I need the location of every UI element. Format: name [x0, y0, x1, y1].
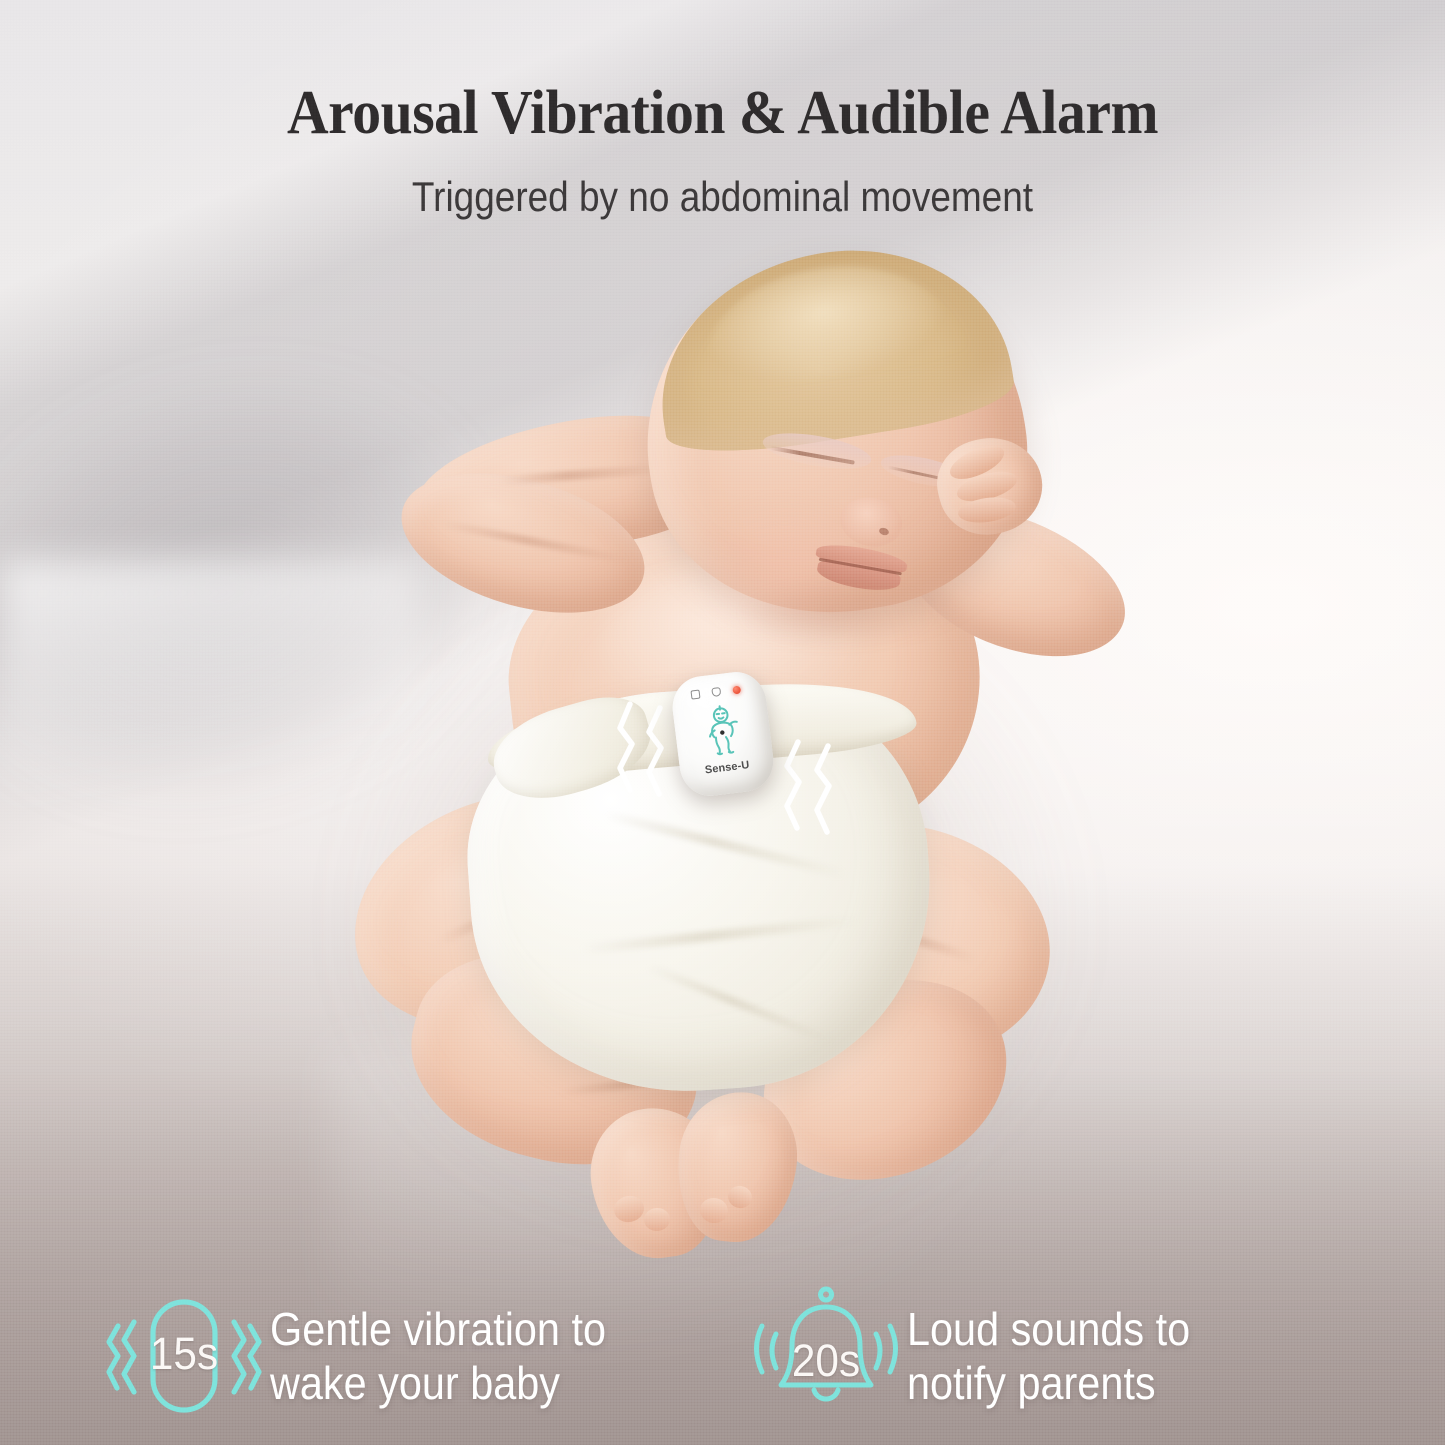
page-subtitle: Triggered by no abdominal movement [87, 176, 1359, 218]
bell-alarm-icon: 20s [751, 1286, 901, 1426]
feature-sound: 20s Loud sounds to notify parents [751, 1286, 1222, 1426]
sense-u-baby-monitor-device[interactable]: Sense-U [669, 669, 777, 800]
chin-shadow [742, 588, 932, 644]
sound-text-line2: notify parents [907, 1356, 1190, 1410]
vibration-waves-left-icon [616, 698, 678, 802]
page-title: Arousal Vibration & Audible Alarm [51, 82, 1395, 144]
vibration-device-icon: 15s [104, 1292, 264, 1420]
sound-feature-text: Loud sounds to notify parents [907, 1302, 1190, 1411]
baby-line-art-icon [689, 698, 756, 765]
product-feature-poster: Sense-U Arousal Vibration & Audible Alar… [0, 0, 1445, 1445]
feature-callout-row: 15s Gentle vibration to wake your baby [0, 1286, 1445, 1426]
vibration-feature-text: Gentle vibration to wake your baby [270, 1302, 606, 1411]
battery-icon [690, 690, 700, 700]
led-indicator-icon [732, 686, 741, 695]
sound-text-line1: Loud sounds to [907, 1303, 1190, 1355]
feature-vibration: 15s Gentle vibration to wake your baby [104, 1292, 643, 1420]
sound-duration-label: 20s [756, 1338, 897, 1383]
vibration-text-line2: wake your baby [270, 1356, 606, 1410]
vibration-duration-label: 15s [109, 1331, 259, 1376]
vibration-waves-right-icon [782, 736, 844, 840]
vibration-text-line1: Gentle vibration to [270, 1303, 606, 1355]
